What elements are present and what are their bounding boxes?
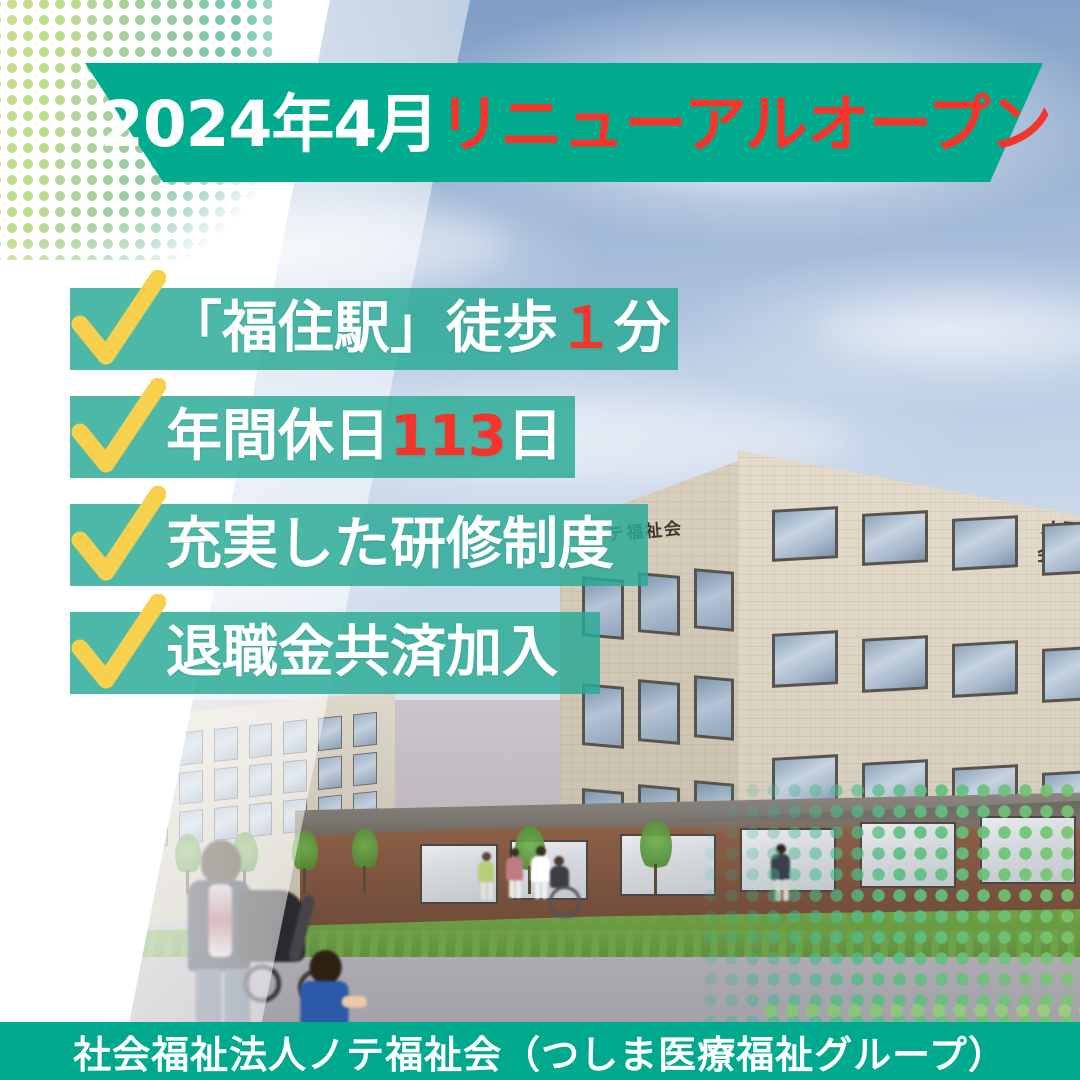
label-part-after: 日 — [507, 404, 563, 469]
label-part-before: 退職金共済加入 — [166, 620, 558, 685]
list-item: 充実した研修制度 — [70, 504, 614, 586]
list-item-label: 充実した研修制度 — [166, 504, 614, 586]
check-icon — [70, 378, 166, 482]
check-icon — [70, 270, 166, 374]
feature-checklist: 「福住駅」徒歩１分 年間休日113日 充実した研修制度 — [0, 0, 1080, 1080]
organization-footer: 社会福祉法人ノテ福祉会（つしま医療福祉グループ） — [0, 1022, 1080, 1080]
label-part-before: 「福住駅」徒歩 — [166, 296, 558, 361]
list-item: 「福住駅」徒歩１分 — [70, 288, 670, 370]
organization-name: 社会福祉法人ノテ福祉会（つしま医療福祉グループ） — [73, 1024, 1007, 1079]
label-highlight: １ — [558, 296, 614, 361]
list-item: 退職金共済加入 — [70, 612, 558, 694]
label-part-after: 分 — [614, 296, 670, 361]
list-item-label: 年間休日113日 — [166, 396, 563, 478]
list-item-label: 退職金共済加入 — [166, 612, 558, 694]
list-item-label: 「福住駅」徒歩１分 — [166, 288, 670, 370]
list-item: 年間休日113日 — [70, 396, 563, 478]
label-part-before: 充実した研修制度 — [166, 512, 614, 577]
poster-canvas: ノテ福祉会 ノテ福祉会 — [0, 0, 1080, 1080]
label-part-before: 年間休日 — [166, 404, 390, 469]
check-icon — [70, 486, 166, 590]
label-highlight: 113 — [390, 404, 507, 469]
check-icon — [70, 594, 166, 698]
